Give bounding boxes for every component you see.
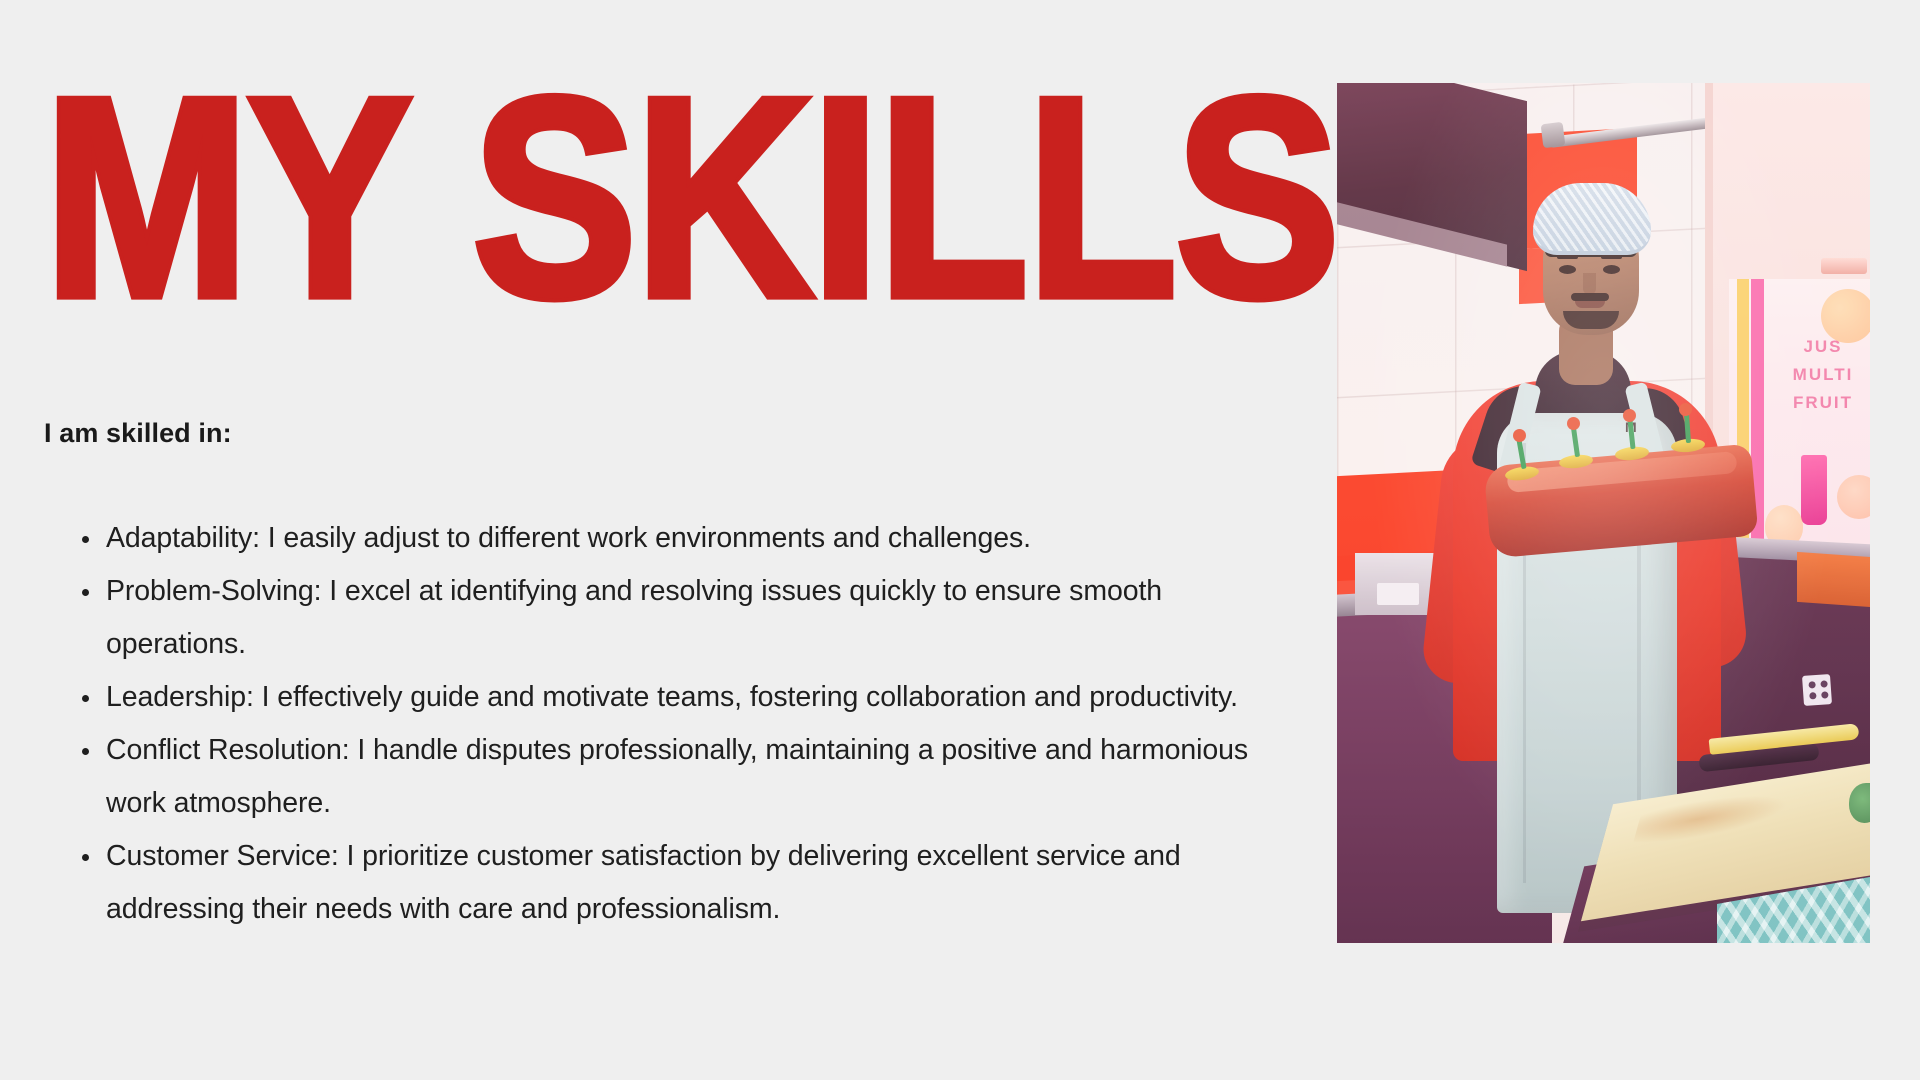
skewer-topper (1679, 403, 1692, 416)
wall-socket (1802, 674, 1832, 706)
chef-eye-left (1559, 265, 1576, 274)
list-item: Conflict Resolution: I handle disputes p… (76, 724, 1271, 830)
hairnet-icon (1533, 183, 1651, 255)
photo-scene: JUS MULTI FRUIT (1337, 83, 1870, 943)
poster-text-line-3: FRUIT (1775, 389, 1870, 417)
rail-mount (1541, 122, 1566, 149)
profile-photo: JUS MULTI FRUIT (1337, 83, 1870, 943)
skewer-topper (1513, 429, 1526, 442)
skills-list: Adaptability: I easily adjust to differe… (76, 512, 1271, 936)
herb-garnish (1849, 783, 1870, 823)
chef-eyebrow-right (1601, 255, 1622, 259)
poster-text-line-2: MULTI (1775, 361, 1870, 389)
skewer-topper (1567, 417, 1580, 430)
chef-eye-right (1603, 265, 1620, 274)
skills-subheading: I am skilled in: (44, 418, 232, 449)
slide-canvas: MY SKILLS I am skilled in: Adaptability:… (0, 0, 1920, 1080)
poster-text-line-1: JUS (1775, 333, 1870, 361)
page-title: MY SKILLS (44, 58, 1203, 336)
chef-mouth (1575, 301, 1605, 308)
poster-text: JUS MULTI FRUIT (1775, 333, 1870, 417)
orange-crate (1797, 552, 1870, 608)
skewer-topper (1623, 409, 1636, 422)
poster-fruit-graphic (1837, 475, 1870, 519)
wall-bracket (1821, 258, 1867, 274)
list-item: Adaptability: I easily adjust to differe… (76, 512, 1271, 565)
list-item: Problem-Solving: I excel at identifying … (76, 565, 1271, 671)
chef-mustache (1571, 293, 1609, 301)
list-item: Leadership: I effectively guide and moti… (76, 671, 1271, 724)
list-item: Customer Service: I prioritize customer … (76, 830, 1271, 936)
poster-juice-glass (1801, 455, 1827, 525)
chef-nose (1583, 273, 1596, 295)
chef-eyebrow-left (1557, 255, 1578, 259)
stove-panel (1377, 583, 1419, 605)
